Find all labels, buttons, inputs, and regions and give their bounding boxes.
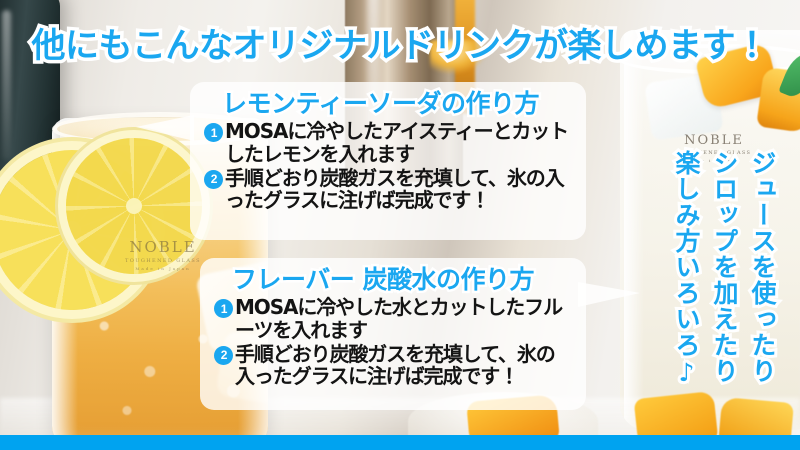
vertical-line-3: 楽しみ方いろいろ♪ bbox=[668, 150, 704, 422]
vertical-line-2: シロップを加えたり bbox=[706, 150, 742, 422]
step-text: MOSAに冷やした水とカットしたフルーツを入れます bbox=[235, 296, 572, 342]
list-item: 2 手順どおり炭酸ガスを充填して、氷の入ったグラスに注げば完成です！ bbox=[214, 343, 572, 389]
recipe-heading: フレーバー 炭酸水の作り方 bbox=[214, 266, 572, 294]
list-item: 2 手順どおり炭酸ガスを充填して、氷の入ったグラスに注げば完成です！ bbox=[204, 167, 572, 213]
recipe-steps-list: 1 MOSAに冷やした水とカットしたフルーツを入れます 2 手順どおり炭酸ガスを… bbox=[214, 296, 572, 388]
step-number-badge: 2 bbox=[204, 170, 223, 189]
step-text: MOSAに冷やしたアイスティーとカットしたレモンを入れます bbox=[225, 120, 572, 166]
step-text: 手順どおり炭酸ガスを充填して、氷の入ったグラスに注げば完成です！ bbox=[225, 167, 572, 213]
page-title: 他にもこんなオリジナルドリンクが楽しめます！ bbox=[0, 18, 800, 67]
bubble-1-tail bbox=[136, 115, 194, 141]
list-item: 1 MOSAに冷やした水とカットしたフルーツを入れます bbox=[214, 296, 572, 342]
list-item: 1 MOSAに冷やしたアイスティーとカットしたレモンを入れます bbox=[204, 120, 572, 166]
recipe-heading: レモンティーソーダの作り方 bbox=[204, 90, 572, 118]
step-number-badge: 1 bbox=[204, 123, 223, 142]
brand-name: NOBLE bbox=[664, 133, 764, 148]
step-number-badge: 2 bbox=[214, 346, 233, 365]
bottom-accent-bar bbox=[0, 435, 800, 450]
promo-slide: NOBLE TOUGHENED GLASS Made in Japan NOBL… bbox=[0, 0, 800, 450]
bubble-2-tail bbox=[578, 282, 640, 307]
brand-name: NOBLE bbox=[108, 238, 218, 256]
recipe-card-flavored-soda-water: フレーバー 炭酸水の作り方 1 MOSAに冷やした水とカットしたフルーツを入れま… bbox=[200, 258, 586, 410]
vertical-callout: ジュースを使ったり シロップを加えたり 楽しみ方いろいろ♪ bbox=[668, 150, 780, 422]
vertical-line-1: ジュースを使ったり bbox=[744, 150, 780, 422]
step-text: 手順どおり炭酸ガスを充填して、氷の入ったグラスに注げば完成です！ bbox=[235, 343, 572, 389]
recipe-card-lemon-tea-soda: レモンティーソーダの作り方 1 MOSAに冷やしたアイスティーとカットしたレモン… bbox=[190, 82, 586, 240]
recipe-steps-list: 1 MOSAに冷やしたアイスティーとカットしたレモンを入れます 2 手順どおり炭… bbox=[204, 120, 572, 212]
step-number-badge: 1 bbox=[214, 299, 233, 318]
